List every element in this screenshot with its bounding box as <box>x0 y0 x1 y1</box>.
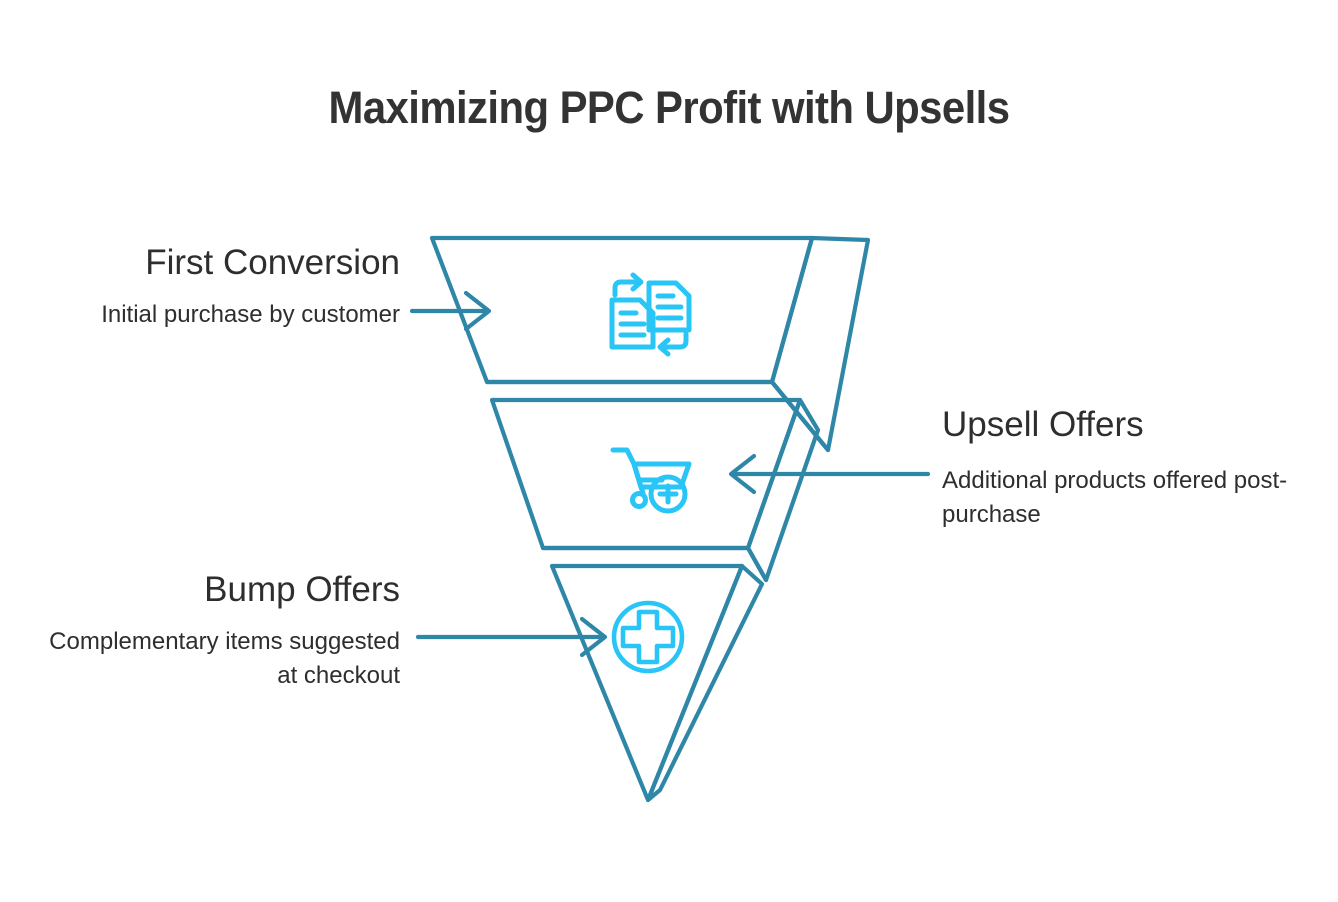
callout-description-upsell-offers: Additional products offered post-purchas… <box>942 464 1302 532</box>
callout-title-bump-offers: Bump Offers <box>40 570 400 609</box>
funnel-stage-1-side <box>772 238 868 450</box>
connector-first-conversion <box>412 293 489 329</box>
callout-title-first-conversion: First Conversion <box>40 243 400 282</box>
circle-plus-icon <box>614 603 682 671</box>
callout-title-upsell-offers: Upsell Offers <box>942 405 1302 444</box>
callout-first-conversion: First Conversion Initial purchase by cus… <box>40 243 400 332</box>
connector-upsell-offers <box>731 456 928 492</box>
callout-upsell-offers: Upsell Offers Additional products offere… <box>942 405 1302 532</box>
funnel-stage-3-side <box>648 566 762 800</box>
cart-plus-icon <box>613 450 689 511</box>
callout-bump-offers: Bump Offers Complementary items suggeste… <box>40 570 400 693</box>
callout-description-first-conversion: Initial purchase by customer <box>40 298 400 332</box>
funnel-diagram: Maximizing PPC Profit with Upsells <box>0 0 1338 902</box>
funnel-stage-1-bottom-edge <box>487 382 828 450</box>
documents-exchange-icon <box>612 275 689 354</box>
callout-description-bump-offers: Complementary items suggested at checkou… <box>40 625 400 693</box>
